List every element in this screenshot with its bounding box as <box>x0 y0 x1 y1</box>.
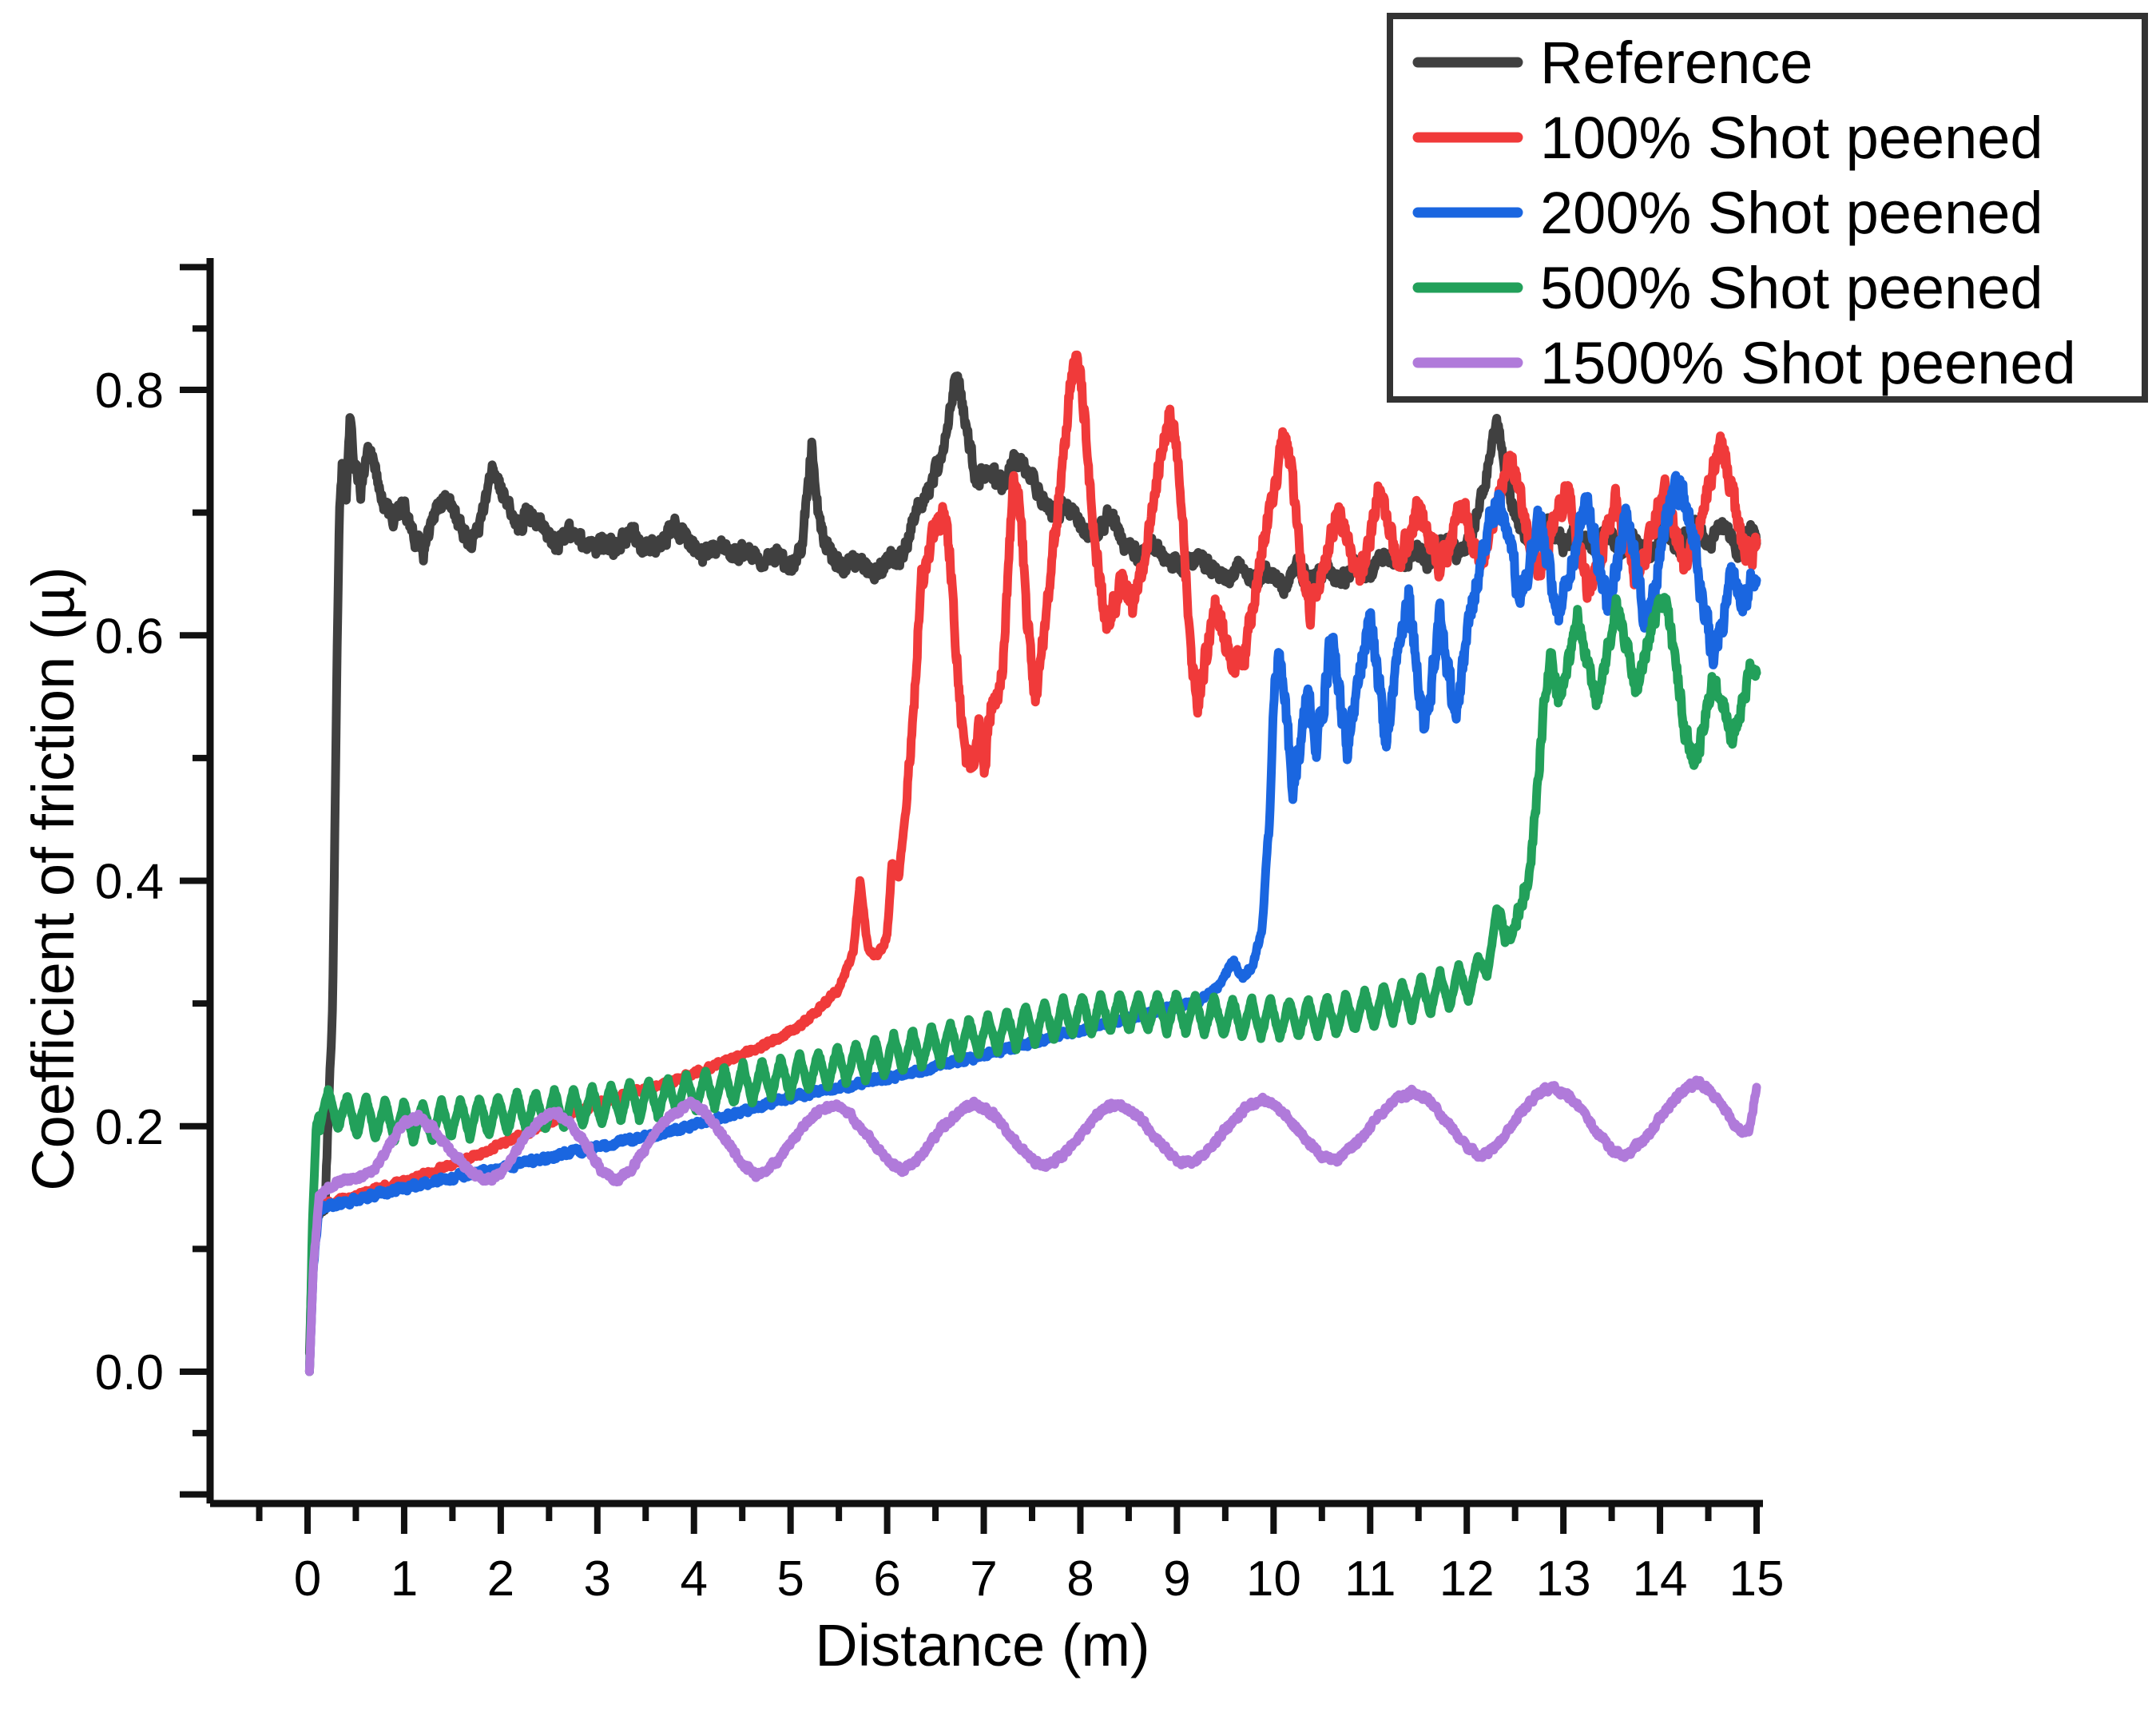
x-tick-label: 10 <box>1246 1551 1301 1607</box>
x-tick-label: 12 <box>1439 1551 1495 1607</box>
x-tick-label: 1 <box>391 1551 418 1607</box>
friction-chart-figure: 0123456789101112131415 0.00.20.40.60.8 D… <box>0 0 2156 1712</box>
legend-label: 200% Shot peened <box>1540 180 2043 246</box>
y-axis-title: Coefficient of friction (µ) <box>20 566 86 1191</box>
x-tick-label: 11 <box>1344 1551 1396 1607</box>
x-axis-title: Distance (m) <box>815 1612 1149 1678</box>
legend-label: 1500% Shot peened <box>1540 330 2076 396</box>
y-tick-labels: 0.00.20.40.60.8 <box>95 363 164 1400</box>
plot-series-group <box>309 355 1757 1372</box>
x-tick-label: 0 <box>294 1551 321 1607</box>
x-tick-label: 4 <box>680 1551 707 1607</box>
x-tick-label: 15 <box>1729 1551 1785 1607</box>
x-tick-label: 3 <box>584 1551 611 1607</box>
chart-canvas: 0123456789101112131415 0.00.20.40.60.8 D… <box>0 0 2156 1712</box>
x-tick-label: 9 <box>1163 1551 1190 1607</box>
x-tick-label: 14 <box>1633 1551 1688 1607</box>
x-tick-label: 13 <box>1536 1551 1591 1607</box>
y-tick-label: 0.4 <box>95 855 164 910</box>
x-tick-label: 8 <box>1066 1551 1094 1607</box>
legend-label: 100% Shot peened <box>1540 105 2043 171</box>
x-tick-label: 5 <box>776 1551 804 1607</box>
x-tick-label: 6 <box>873 1551 900 1607</box>
x-tick-label: 2 <box>487 1551 514 1607</box>
legend[interactable]: Reference100% Shot peened200% Shot peene… <box>1390 16 2145 399</box>
x-tick-labels: 0123456789101112131415 <box>294 1551 1785 1607</box>
legend-label: Reference <box>1540 30 1813 96</box>
series-line <box>309 598 1757 1372</box>
y-tick-label: 0.2 <box>95 1100 164 1155</box>
x-tick-label: 7 <box>970 1551 997 1607</box>
series-line <box>309 475 1757 1372</box>
y-tick-label: 0.6 <box>95 609 164 664</box>
legend-label: 500% Shot peened <box>1540 255 2043 321</box>
y-tick-label: 0.8 <box>95 363 164 419</box>
y-tick-label: 0.0 <box>95 1345 164 1400</box>
